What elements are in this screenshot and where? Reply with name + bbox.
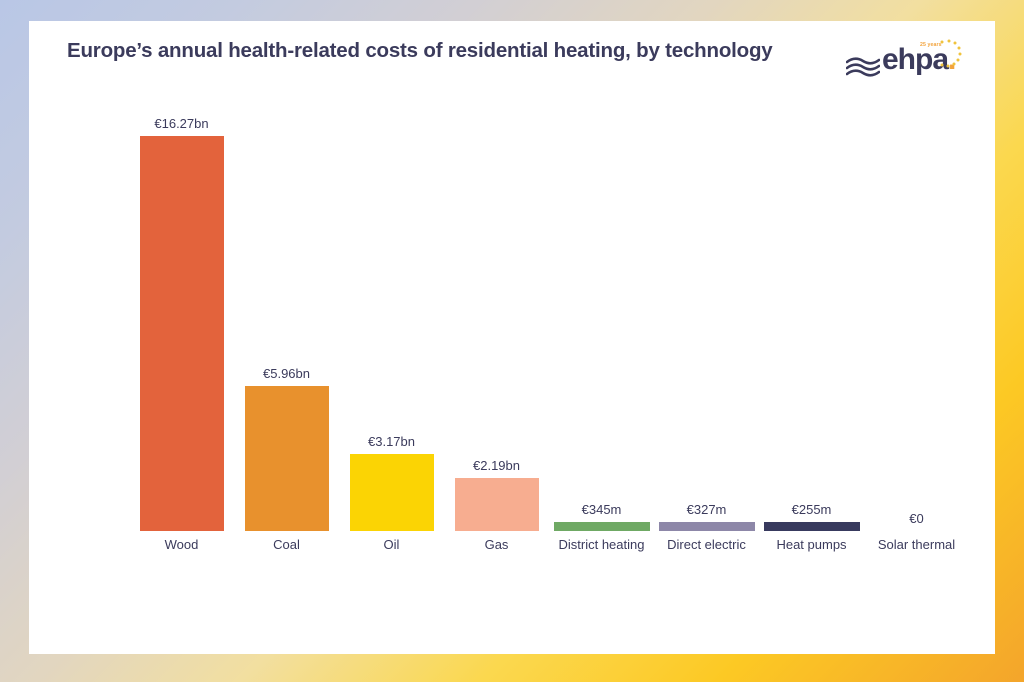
bar-group: €16.27bnWood: [129, 81, 234, 611]
bar-rect: [245, 386, 329, 531]
bar-group: €345mDistrict heating: [549, 81, 654, 611]
bar-group: €0Solar thermal: [864, 81, 969, 611]
bar-chart-plot: €16.27bnWood€5.96bnCoal€3.17bnOil€2.19bn…: [67, 81, 957, 611]
bar-group: €2.19bnGas: [444, 81, 549, 611]
bar-rect: [554, 522, 650, 531]
bar-value-label: €0: [864, 511, 969, 526]
bar-group: €5.96bnCoal: [234, 81, 339, 611]
bar-value-label: €345m: [549, 502, 654, 517]
gradient-frame: Europe’s annual health-related costs of …: [0, 0, 1024, 682]
bar-category-label: Solar thermal: [854, 537, 979, 552]
bar-group: €327mDirect electric: [654, 81, 759, 611]
page-title: Europe’s annual health-related costs of …: [67, 39, 773, 63]
bar-value-label: €5.96bn: [234, 366, 339, 381]
bar-group: €255mHeat pumps: [759, 81, 864, 611]
bar-rect: [764, 522, 860, 531]
bar-rect: [455, 478, 539, 531]
chart-card: Europe’s annual health-related costs of …: [29, 21, 995, 654]
bar-rect: [350, 454, 434, 531]
eu-stars-icon: [928, 38, 966, 74]
bar-value-label: €255m: [759, 502, 864, 517]
bar-rect: [659, 522, 755, 531]
bar-value-label: €16.27bn: [129, 116, 234, 131]
waves-icon: [846, 57, 880, 79]
bar-group: €3.17bnOil: [339, 81, 444, 611]
bar-value-label: €327m: [654, 502, 759, 517]
bar-value-label: €2.19bn: [444, 458, 549, 473]
bar-value-label: €3.17bn: [339, 434, 444, 449]
bar-rect: [140, 136, 224, 531]
